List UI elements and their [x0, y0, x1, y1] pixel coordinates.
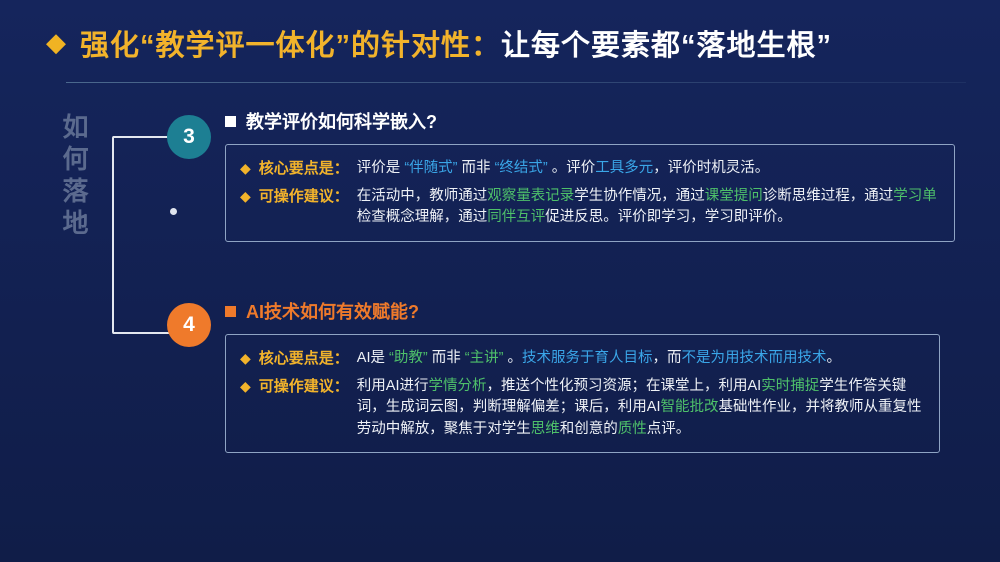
section-3-row-1-text: 评价是 “伴随式” 而非 “终结式” 。评价工具多元，评价时机灵活。 [357, 158, 769, 180]
section-4-content-box: ◆ 核心要点是： AI是 “助教” 而非 “主讲” 。技术服务于育人目标，而不是… [225, 334, 940, 453]
section-4-heading-text: AI技术如何有效赋能? [246, 298, 419, 324]
section-3-row-1-label: 核心要点是： [259, 158, 349, 179]
text-segment: 在活动中，教师通过 [357, 188, 488, 204]
text-segment: 而非 [428, 350, 465, 366]
section-4-row-2: ◆ 可操作建议： 利用AI进行学情分析，推送个性化预习资源；在课堂上，利用AI实… [240, 376, 923, 441]
diamond-bullet-icon: ◆ [240, 376, 251, 397]
bracket-connector [112, 136, 176, 334]
text-segment: 同伴互评 [487, 209, 545, 225]
text-segment: 不是为用技术而用技术 [681, 350, 826, 366]
diamond-bullet-icon: ◆ [240, 158, 251, 179]
diamond-icon: ◆ [46, 29, 66, 55]
section-4-row-2-label: 可操作建议： [259, 376, 349, 397]
text-segment: 促进反思。评价即学习，学习即评价。 [545, 209, 792, 225]
text-segment: “伴随式” [404, 160, 457, 176]
section-4-row-1-label: 核心要点是： [259, 348, 349, 369]
text-segment: 思维 [531, 421, 560, 437]
diamond-bullet-icon: ◆ [240, 186, 251, 207]
text-segment: ，评价时机灵活。 [653, 160, 769, 176]
section-4: AI技术如何有效赋能? ◆ 核心要点是： AI是 “助教” 而非 “主讲” 。技… [225, 298, 940, 453]
side-label: 如何落地 [56, 113, 93, 241]
section-3-row-2-text: 在活动中，教师通过观察量表记录学生协作情况，通过课堂提问诊断思维过程，通过学习单… [357, 186, 938, 229]
text-segment: 观察量表记录 [487, 188, 574, 204]
text-segment: 点评。 [647, 421, 691, 437]
connector-dot-middle [170, 208, 177, 215]
text-segment: AI是 [357, 350, 389, 366]
section-4-row-1: ◆ 核心要点是： AI是 “助教” 而非 “主讲” 。技术服务于育人目标，而不是… [240, 348, 923, 370]
section-number-4: 4 [167, 303, 211, 347]
section-3-heading-text: 教学评价如何科学嵌入? [246, 108, 437, 134]
text-segment: “终结式” [495, 160, 548, 176]
text-segment: 学生协作情况，通过 [574, 188, 705, 204]
section-4-row-2-text: 利用AI进行学情分析，推送个性化预习资源；在课堂上，利用AI实时捕捉学生作答关键… [357, 376, 923, 441]
text-segment: 实时捕捉 [761, 378, 819, 394]
text-segment: 评价是 [357, 160, 405, 176]
diamond-bullet-icon: ◆ [240, 348, 251, 369]
text-segment: 技术服务于育人目标 [522, 350, 653, 366]
title-white-text: 让每个要素都“落地生根” [501, 30, 832, 62]
text-segment: 诊断思维过程，通过 [763, 188, 894, 204]
section-3-heading: 教学评价如何科学嵌入? [225, 108, 955, 134]
section-4-row-1-text: AI是 “助教” 而非 “主讲” 。技术服务于育人目标，而不是为用技术而用技术。 [357, 348, 841, 370]
text-segment: “主讲” [465, 350, 504, 366]
section-4-heading: AI技术如何有效赋能? [225, 298, 940, 324]
square-bullet-icon [225, 116, 236, 127]
text-segment: 智能批改 [661, 399, 719, 415]
text-segment: 学情分析 [429, 378, 487, 394]
text-segment: 学习单 [893, 188, 937, 204]
page-title: ◆ 强化“教学评一体化”的针对性：让每个要素都“落地生根” [46, 22, 832, 64]
text-segment: 检查概念理解，通过 [357, 209, 488, 225]
section-number-3: 3 [167, 115, 211, 159]
title-divider [66, 82, 966, 83]
text-segment: 。 [826, 350, 841, 366]
text-segment: 而非 [458, 160, 495, 176]
slide-canvas: ◆ 强化“教学评一体化”的针对性：让每个要素都“落地生根” 如何落地 3 4 教… [0, 0, 1000, 562]
square-bullet-icon [225, 306, 236, 317]
section-3-row-1: ◆ 核心要点是： 评价是 “伴随式” 而非 “终结式” 。评价工具多元，评价时机… [240, 158, 938, 180]
text-segment: 质性 [618, 421, 647, 437]
section-3-content-box: ◆ 核心要点是： 评价是 “伴随式” 而非 “终结式” 。评价工具多元，评价时机… [225, 144, 955, 242]
text-segment: “助教” [389, 350, 428, 366]
section-3-row-2-label: 可操作建议： [259, 186, 349, 207]
text-segment: 利用AI进行 [357, 378, 429, 394]
section-3-row-2: ◆ 可操作建议： 在活动中，教师通过观察量表记录学生协作情况，通过课堂提问诊断思… [240, 186, 938, 229]
text-segment: 课堂提问 [705, 188, 763, 204]
text-segment: ，推送个性化预习资源；在课堂上，利用AI [487, 378, 762, 394]
section-3: 教学评价如何科学嵌入? ◆ 核心要点是： 评价是 “伴随式” 而非 “终结式” … [225, 108, 955, 242]
text-segment: 。评价 [548, 160, 596, 176]
text-segment: 工具多元 [595, 160, 653, 176]
title-gold-text: 强化“教学评一体化”的针对性： [80, 30, 501, 62]
text-segment: ，而 [652, 350, 681, 366]
text-segment: 和创意的 [560, 421, 618, 437]
text-segment: 。 [503, 350, 522, 366]
